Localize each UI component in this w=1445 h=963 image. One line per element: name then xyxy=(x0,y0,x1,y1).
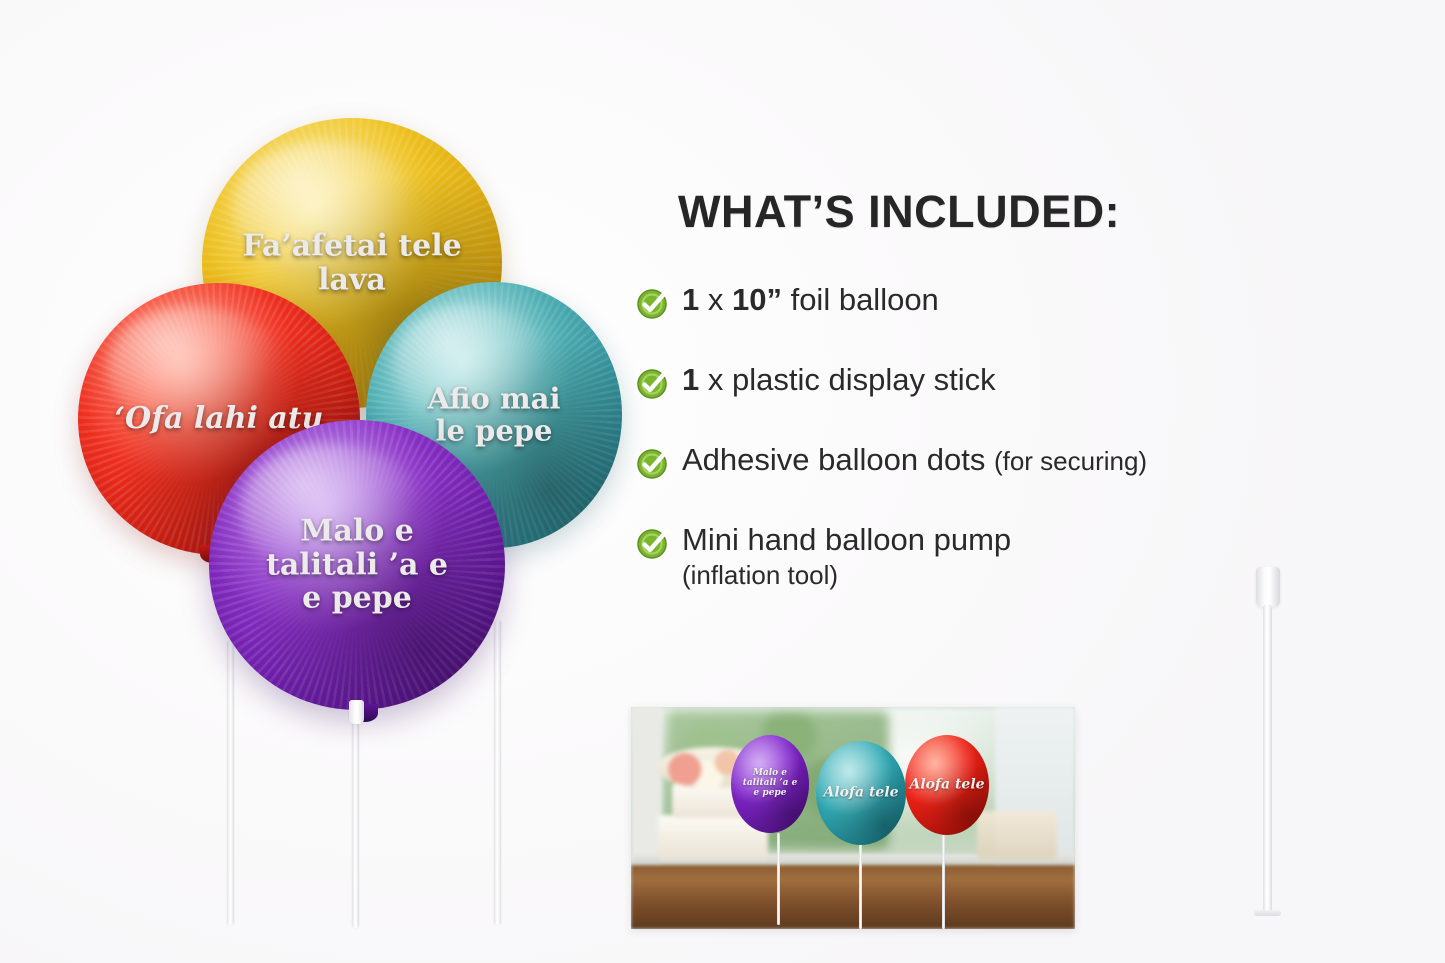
list-item: Mini hand balloon pump(inflation tool) xyxy=(636,522,1396,590)
display-stick-cup xyxy=(1256,567,1280,607)
list-item-label: Adhesive balloon dots (for securing) xyxy=(682,442,1147,478)
photo-stick-red xyxy=(942,835,945,929)
list-item-label: 1 x 10” foil balloon xyxy=(682,282,939,318)
photo-purple-balloon-text: Malo e talitali ’a e e pepe xyxy=(731,769,809,799)
list-item: 1 x 10” foil balloon xyxy=(636,282,1396,320)
balloon-stick-center xyxy=(352,700,359,928)
photo-red-balloon: Alofa tele xyxy=(905,735,989,835)
item-sub: (inflation tool) xyxy=(682,560,1011,590)
photo-stick-teal xyxy=(859,843,862,929)
lifestyle-photo: Malo e talitali ’a e e pepe Alofa tele A… xyxy=(631,707,1075,929)
balloon-stick-right xyxy=(494,620,501,925)
balloon-stick-left xyxy=(227,640,234,925)
photo-purple-balloon: Malo e talitali ’a e e pepe xyxy=(731,735,809,833)
page-title: WHAT’S INCLUDED: xyxy=(678,186,1396,238)
whats-included-panel: WHAT’S INCLUDED: 1 x 10” foil balloon xyxy=(636,186,1396,632)
stick-cup-purple xyxy=(349,700,364,724)
list-item: 1 x plastic display stick xyxy=(636,362,1396,400)
green-check-icon xyxy=(636,286,670,320)
balloon-highlight xyxy=(392,303,551,425)
balloon-highlight xyxy=(239,443,423,576)
photo-teal-balloon-text: Alofa tele xyxy=(816,785,906,800)
photo-teal-balloon: Alofa tele xyxy=(816,741,906,845)
photo-red-balloon-text: Alofa tele xyxy=(905,777,989,792)
times-separator: x xyxy=(699,282,732,317)
item-main: Mini hand balloon pump xyxy=(682,522,1011,557)
qty-value: 1 xyxy=(682,282,699,317)
wooden-floor xyxy=(631,865,1075,929)
list-item-label: 1 x plastic display stick xyxy=(682,362,996,398)
baby-blocks xyxy=(977,811,1057,860)
green-check-icon xyxy=(636,446,670,480)
photo-stick-purple xyxy=(777,833,780,925)
list-item-label: Mini hand balloon pump(inflation tool) xyxy=(682,522,1011,590)
times-separator: x xyxy=(699,362,732,397)
display-stick-base xyxy=(1254,910,1281,916)
item-paren: (for securing) xyxy=(994,446,1147,476)
green-check-icon xyxy=(636,526,670,560)
display-stick-shaft xyxy=(1263,604,1272,914)
qty-value: 1 xyxy=(682,362,699,397)
balloon-highlight xyxy=(232,141,418,274)
item-rest: plastic display stick xyxy=(732,362,996,397)
green-check-icon xyxy=(636,366,670,400)
infographic-canvas: Fa’afetai tele lava ‘Ofa lahi atu Afio m… xyxy=(0,0,1445,963)
list-item: Adhesive balloon dots (for securing) xyxy=(636,442,1396,480)
size-value: 10” xyxy=(732,282,782,317)
item-rest: foil balloon xyxy=(782,282,939,317)
purple-balloon: Malo e talitali ’a e e pepe xyxy=(209,420,505,710)
balloon-highlight xyxy=(106,305,281,430)
item-main: Adhesive balloon dots xyxy=(682,442,994,477)
